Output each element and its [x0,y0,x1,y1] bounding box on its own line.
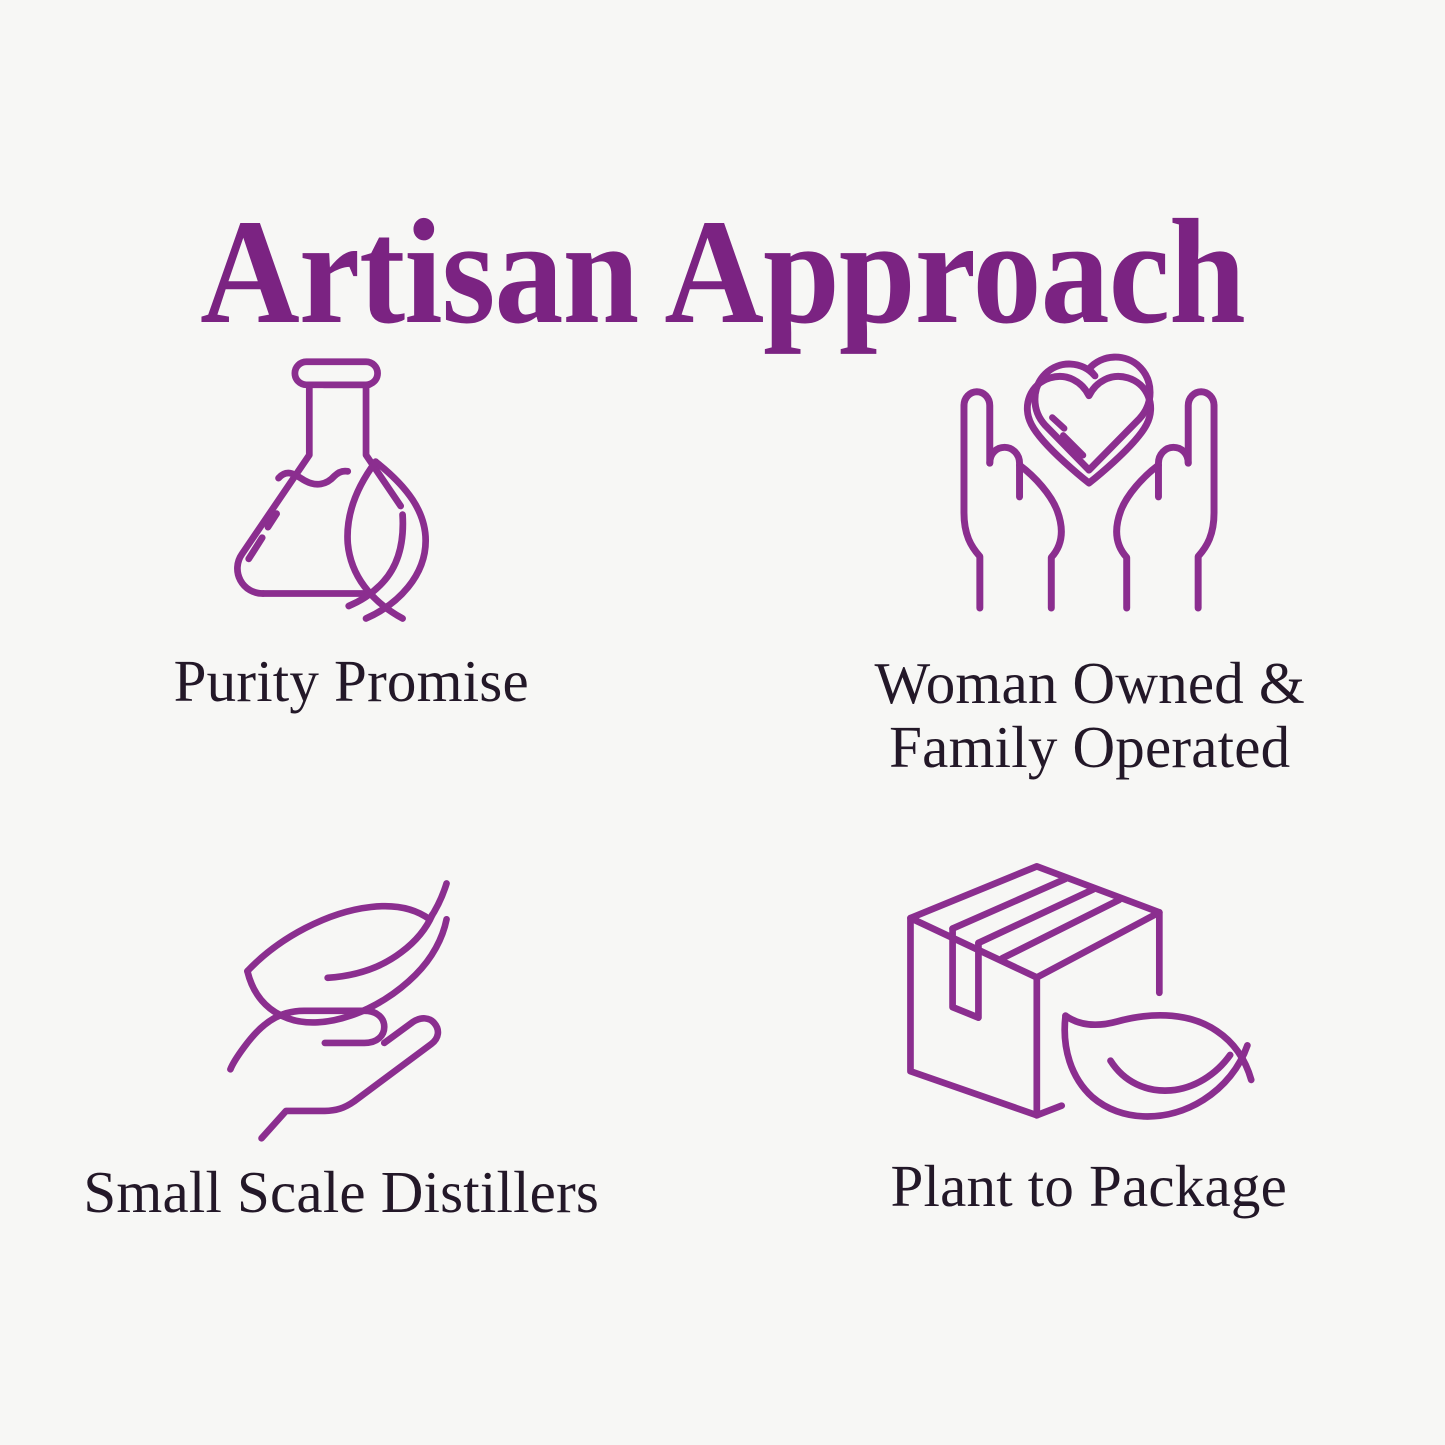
feature-item-plant-to-package: Plant to Package [723,845,1445,1315]
feature-label: Purity Promise [174,650,529,714]
feature-item-small-scale-distillers: Small Scale Distillers [0,845,723,1315]
flask-leaf-icon [217,340,467,620]
features-grid: Purity Promise [0,340,1445,1340]
feature-label: Plant to Package [891,1155,1287,1219]
feature-label: Small Scale Distillers [83,1161,599,1225]
page-title: Artisan Approach [58,197,1387,347]
feature-label: Woman Owned & Family Operated [875,652,1305,779]
hand-holding-leaf-icon [219,873,474,1109]
artisan-approach-graphic: Artisan Approach [0,0,1445,1445]
package-box-leaf-icon [897,853,1280,1121]
hands-holding-heart-icon [940,356,1238,614]
feature-item-woman-owned: Woman Owned & Family Operated [723,340,1445,810]
feature-item-purity-promise: Purity Promise [0,340,723,810]
